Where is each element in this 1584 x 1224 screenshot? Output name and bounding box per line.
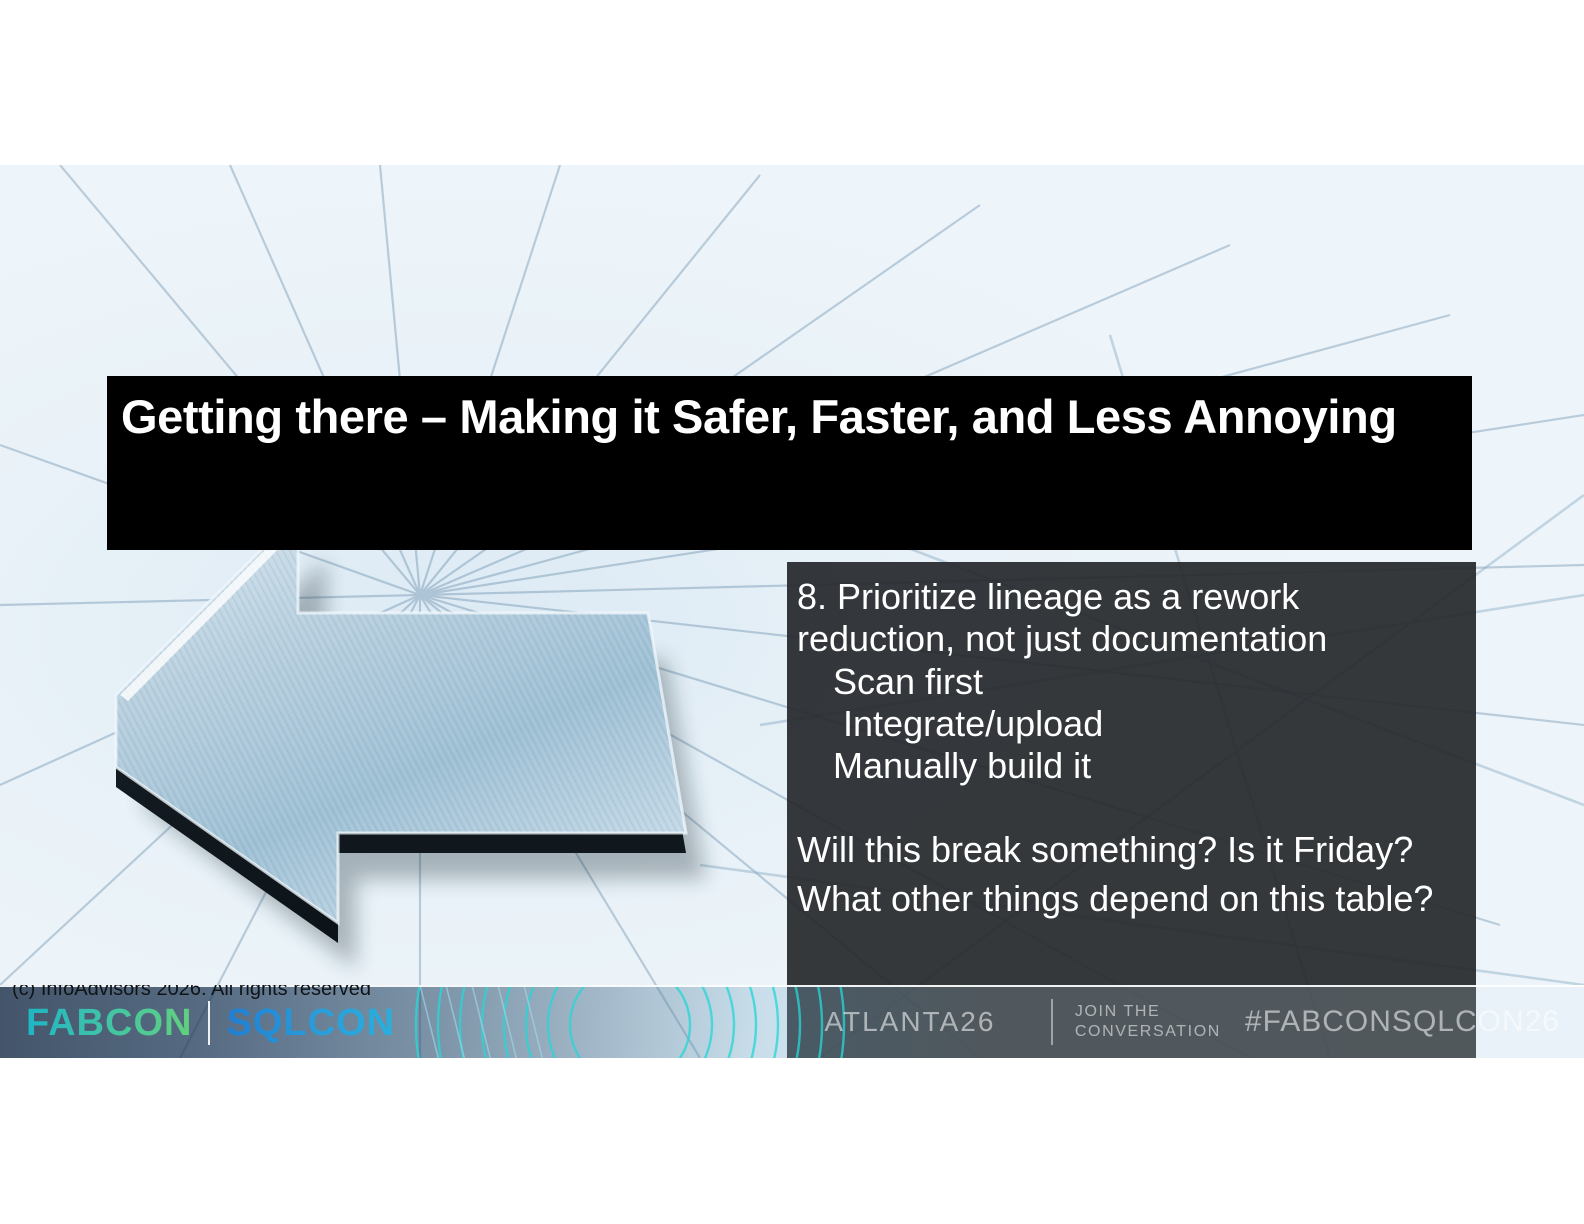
content-sub-point-manually-build: Manually build it: [795, 745, 1460, 787]
footer-join-conversation-label: JOIN THE CONVERSATION: [1053, 1002, 1239, 1042]
content-question-dependencies: What other things depend on this table?: [795, 878, 1460, 920]
copyright-notice: (c) InfoAdvisors 2026. All rights reserv…: [12, 985, 371, 1001]
sqlcon-logo-text: SQLCON: [226, 1002, 395, 1045]
slide-canvas: Getting there – Making it Safer, Faster,…: [0, 165, 1584, 1058]
fabcon-logo-text: FABCON: [26, 1002, 192, 1045]
content-sub-point-integrate-upload: Integrate/upload: [795, 703, 1460, 745]
content-spacer: [795, 787, 1460, 823]
footer-branding: FABCON SQLCON: [26, 1001, 395, 1045]
content-main-point: 8. Prioritize lineage as a rework reduct…: [795, 576, 1460, 661]
slide-page: Getting there – Making it Safer, Faster,…: [0, 0, 1584, 1224]
content-question-break-something: Will this break something? Is it Friday?: [795, 829, 1460, 871]
footer-city-label: ATLANTA26: [803, 1006, 1051, 1038]
slide-title-box: Getting there – Making it Safer, Faster,…: [107, 376, 1472, 550]
content-sub-point-scan-first: Scan first: [795, 661, 1460, 703]
slide-content-panel: 8. Prioritize lineage as a rework reduct…: [787, 562, 1476, 1058]
slide-footer: FABCON SQLCON ATLANTA26 JOIN THE CONVERS…: [0, 985, 1584, 1058]
brand-divider: [208, 1001, 210, 1045]
footer-hashtag: #FABCONSQLCON26: [1239, 1005, 1570, 1039]
slide-title: Getting there – Making it Safer, Faster,…: [121, 390, 1446, 445]
footer-event-info: ATLANTA26 JOIN THE CONVERSATION #FABCONS…: [803, 985, 1570, 1058]
